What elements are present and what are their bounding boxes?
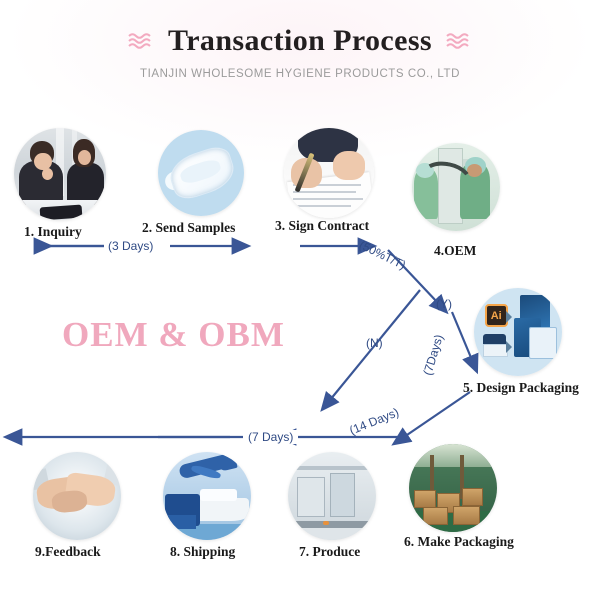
- warehouse-boxes-photo: [409, 444, 497, 532]
- wave-ornament-left-icon: [128, 31, 154, 51]
- handshake-photo: [33, 452, 121, 540]
- business-meeting-photo: [14, 128, 106, 220]
- flow-label-yes: (Y): [436, 297, 452, 311]
- plane-truck-ship-photo: [163, 452, 251, 540]
- step-label-feedback: 9.Feedback: [35, 544, 101, 560]
- step-node-produce[interactable]: 7. Produce: [288, 452, 376, 540]
- oem-obm-watermark: OEM & OBM: [62, 315, 285, 355]
- step-label-oem: 4.OEM: [434, 243, 476, 259]
- step-label-produce: 7. Produce: [299, 544, 360, 560]
- step-node-sign-contract[interactable]: 3. Sign Contract: [284, 128, 374, 218]
- contract-signing-photo: [284, 128, 374, 218]
- step-label-shipping: 8. Shipping: [170, 544, 235, 560]
- sanitary-pad-photo: [158, 130, 244, 216]
- flow-label-7-days-design: (7Days): [420, 333, 446, 377]
- step-node-shipping[interactable]: 8. Shipping: [163, 452, 251, 540]
- step-label-sign-contract: 3. Sign Contract: [275, 218, 369, 234]
- title-row: Transaction Process: [0, 24, 600, 57]
- flow-label-7-days-ship: (7 Days): [243, 430, 298, 444]
- flow-label-3-days: (3 Days): [104, 239, 157, 253]
- header: Transaction Process TIANJIN WHOLESOME HY…: [0, 24, 600, 80]
- company-subtitle: TIANJIN WHOLESOME HYGIENE PRODUCTS CO., …: [0, 68, 600, 80]
- step-node-make-packaging[interactable]: 6. Make Packaging: [409, 444, 497, 532]
- step-label-send-samples: 2. Send Samples: [142, 220, 235, 236]
- wave-ornament-right-icon: [446, 31, 472, 51]
- step-node-feedback[interactable]: 9.Feedback: [33, 452, 121, 540]
- step-label-make-packaging: 6. Make Packaging: [404, 534, 514, 550]
- transaction-process-infographic: Transaction Process TIANJIN WHOLESOME HY…: [0, 0, 600, 600]
- step-node-oem[interactable]: 4.OEM: [412, 143, 500, 231]
- step-label-design-packaging: 5. Design Packaging: [463, 380, 579, 396]
- flow-label-50-percent: (50%T/T): [357, 238, 408, 273]
- flow-label-no: (N): [366, 336, 383, 350]
- step-node-inquiry[interactable]: 1. Inquiry: [14, 128, 106, 220]
- step-node-design-packaging[interactable]: Ai 5. Design Packaging: [474, 288, 562, 376]
- flow-label-14-days: (14 Days): [347, 405, 400, 437]
- page-title: Transaction Process: [168, 24, 432, 57]
- step-node-send-samples[interactable]: 2. Send Samples: [158, 130, 244, 216]
- production-line-photo: [288, 452, 376, 540]
- factory-workers-photo: [412, 143, 500, 231]
- packaging-design-photo: Ai: [474, 288, 562, 376]
- step-label-inquiry: 1. Inquiry: [24, 224, 82, 240]
